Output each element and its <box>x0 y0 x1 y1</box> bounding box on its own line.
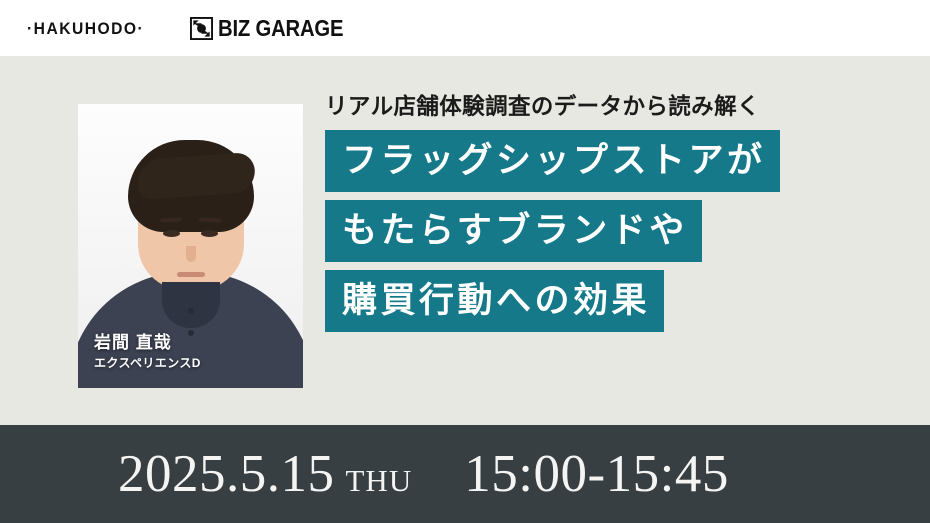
speaker-role: エクスペリエンスD <box>94 356 201 372</box>
title-line-row-3: 購買行動への効果 <box>325 270 895 340</box>
bizgarage-wordmark: BIZ GARAGE <box>218 17 343 40</box>
portrait-button-upper <box>188 308 194 314</box>
title-line-row-1: フラッグシップストアが <box>325 130 895 200</box>
bizgarage-logo: BIZ GARAGE <box>190 17 360 40</box>
event-time: 15:00-15:45 <box>464 448 729 501</box>
portrait-eye-right <box>201 230 218 237</box>
portrait-mouth <box>177 272 205 277</box>
portrait-nose <box>186 246 196 262</box>
hakuhodo-logo: ·HAKUHODO· <box>27 20 144 37</box>
title-eyebrow: リアル店舗体験調査のデータから読み解く <box>325 96 895 119</box>
title-line-3: 購買行動への効果 <box>325 270 664 332</box>
title-line-row-2: もたらすブランドや <box>325 200 895 270</box>
event-date: 2025.5.15 <box>118 448 335 501</box>
seminar-banner: ·HAKUHODO· BIZ GARAGE <box>0 0 930 523</box>
schedule-group: 2025.5.15 THU 15:00-15:45 <box>118 448 729 501</box>
speaker-photo: 岩間 直哉 エクスペリエンスD <box>78 104 303 388</box>
event-day-of-week: THU <box>346 465 413 496</box>
bizgarage-mark-icon <box>190 17 213 40</box>
portrait-hair-fringe <box>135 152 256 200</box>
title-block: リアル店舗体験調査のデータから読み解く フラッグシップストアが もたらすブランド… <box>325 96 895 340</box>
title-line-2: もたらすブランドや <box>325 200 702 262</box>
speaker-caption: 岩間 直哉 エクスペリエンスD <box>94 332 201 372</box>
speaker-name: 岩間 直哉 <box>94 332 201 353</box>
schedule-footer: 2025.5.15 THU 15:00-15:45 <box>0 425 930 523</box>
portrait-eye-left <box>163 230 180 237</box>
brand-header: ·HAKUHODO· BIZ GARAGE <box>0 0 930 56</box>
title-line-1: フラッグシップストアが <box>325 130 780 192</box>
banner-body: 岩間 直哉 エクスペリエンスD リアル店舗体験調査のデータから読み解く フラッグ… <box>0 56 930 425</box>
